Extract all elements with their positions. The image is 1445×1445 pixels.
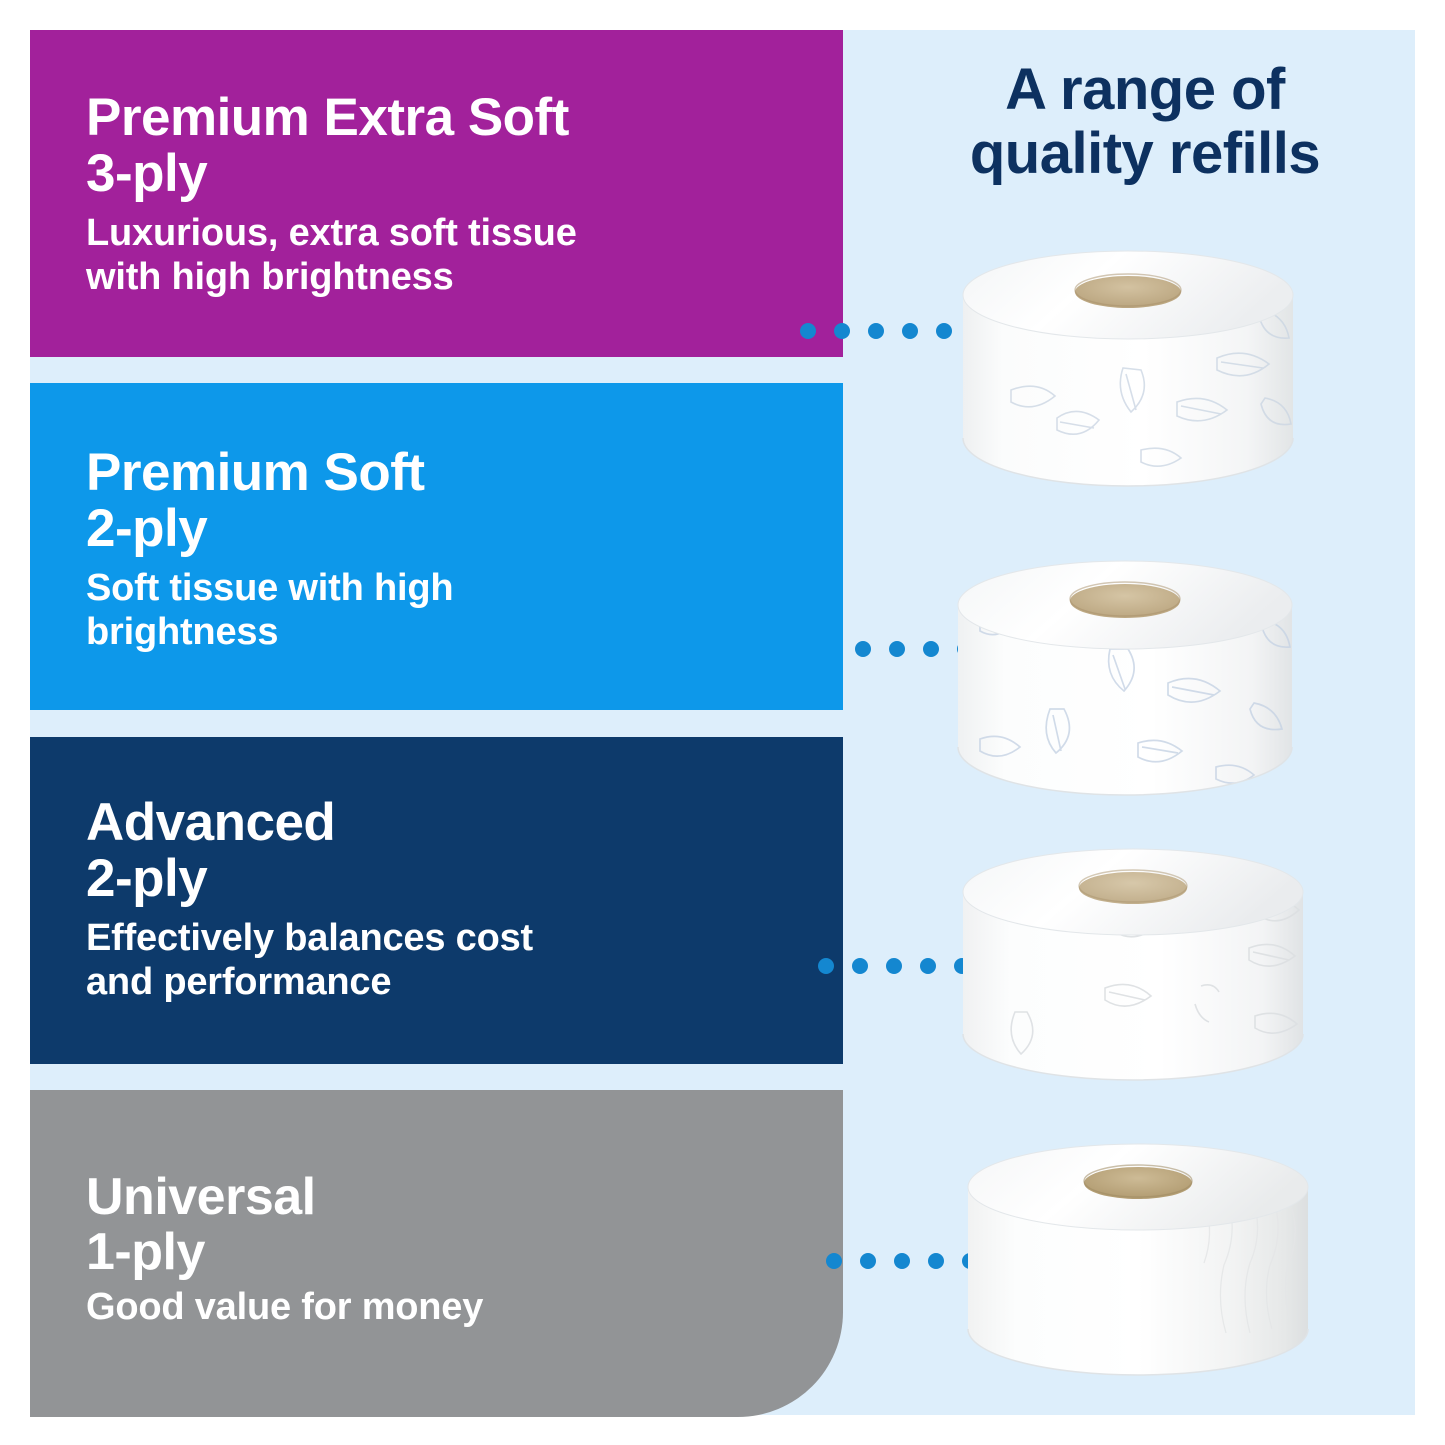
product-panel-universal: Universal 1-ply Good value for money: [30, 1090, 843, 1417]
connector-dot: [860, 1253, 876, 1269]
toilet-roll-image-premium-extra-soft: [955, 250, 1300, 505]
product-panel-premium-soft: Premium Soft 2-ply Soft tissue with high…: [30, 383, 843, 710]
connector-dot: [894, 1253, 910, 1269]
panel-subtitle: Soft tissue with high brightness: [86, 567, 787, 654]
connector-dot: [928, 1253, 944, 1269]
page-headline: A range of quality refills: [880, 58, 1410, 186]
panel-subtitle: Luxurious, extra soft tissue with high b…: [86, 212, 787, 299]
infographic-root: Premium Extra Soft 3-ply Luxurious, extr…: [0, 0, 1445, 1445]
toilet-roll-image-premium-soft: [950, 557, 1300, 812]
product-panel-advanced: Advanced 2-ply Effectively balances cost…: [30, 737, 843, 1064]
connector-dot: [800, 323, 816, 339]
panel-title: Universal 1-ply: [86, 1170, 787, 1280]
toilet-roll-image-universal: [960, 1143, 1315, 1393]
panel-title: Premium Extra Soft 3-ply: [86, 90, 787, 202]
connector-dot: [818, 958, 834, 974]
toilet-roll-image-advanced: [955, 848, 1310, 1098]
connector-dot: [886, 958, 902, 974]
panel-subtitle: Good value for money: [86, 1286, 787, 1330]
connector-dot: [852, 958, 868, 974]
connector-dot: [889, 641, 905, 657]
connector-dot: [923, 641, 939, 657]
product-panel-premium-extra-soft: Premium Extra Soft 3-ply Luxurious, extr…: [30, 30, 843, 357]
connector-dot: [868, 323, 884, 339]
connector-dot: [826, 1253, 842, 1269]
panel-title: Premium Soft 2-ply: [86, 445, 787, 557]
connector-dot: [834, 323, 850, 339]
connector-dot: [902, 323, 918, 339]
connector-dot: [855, 641, 871, 657]
connector-dot: [920, 958, 936, 974]
panel-title: Advanced 2-ply: [86, 795, 787, 907]
connector-dot: [936, 323, 952, 339]
panel-subtitle: Effectively balances cost and performanc…: [86, 917, 787, 1004]
